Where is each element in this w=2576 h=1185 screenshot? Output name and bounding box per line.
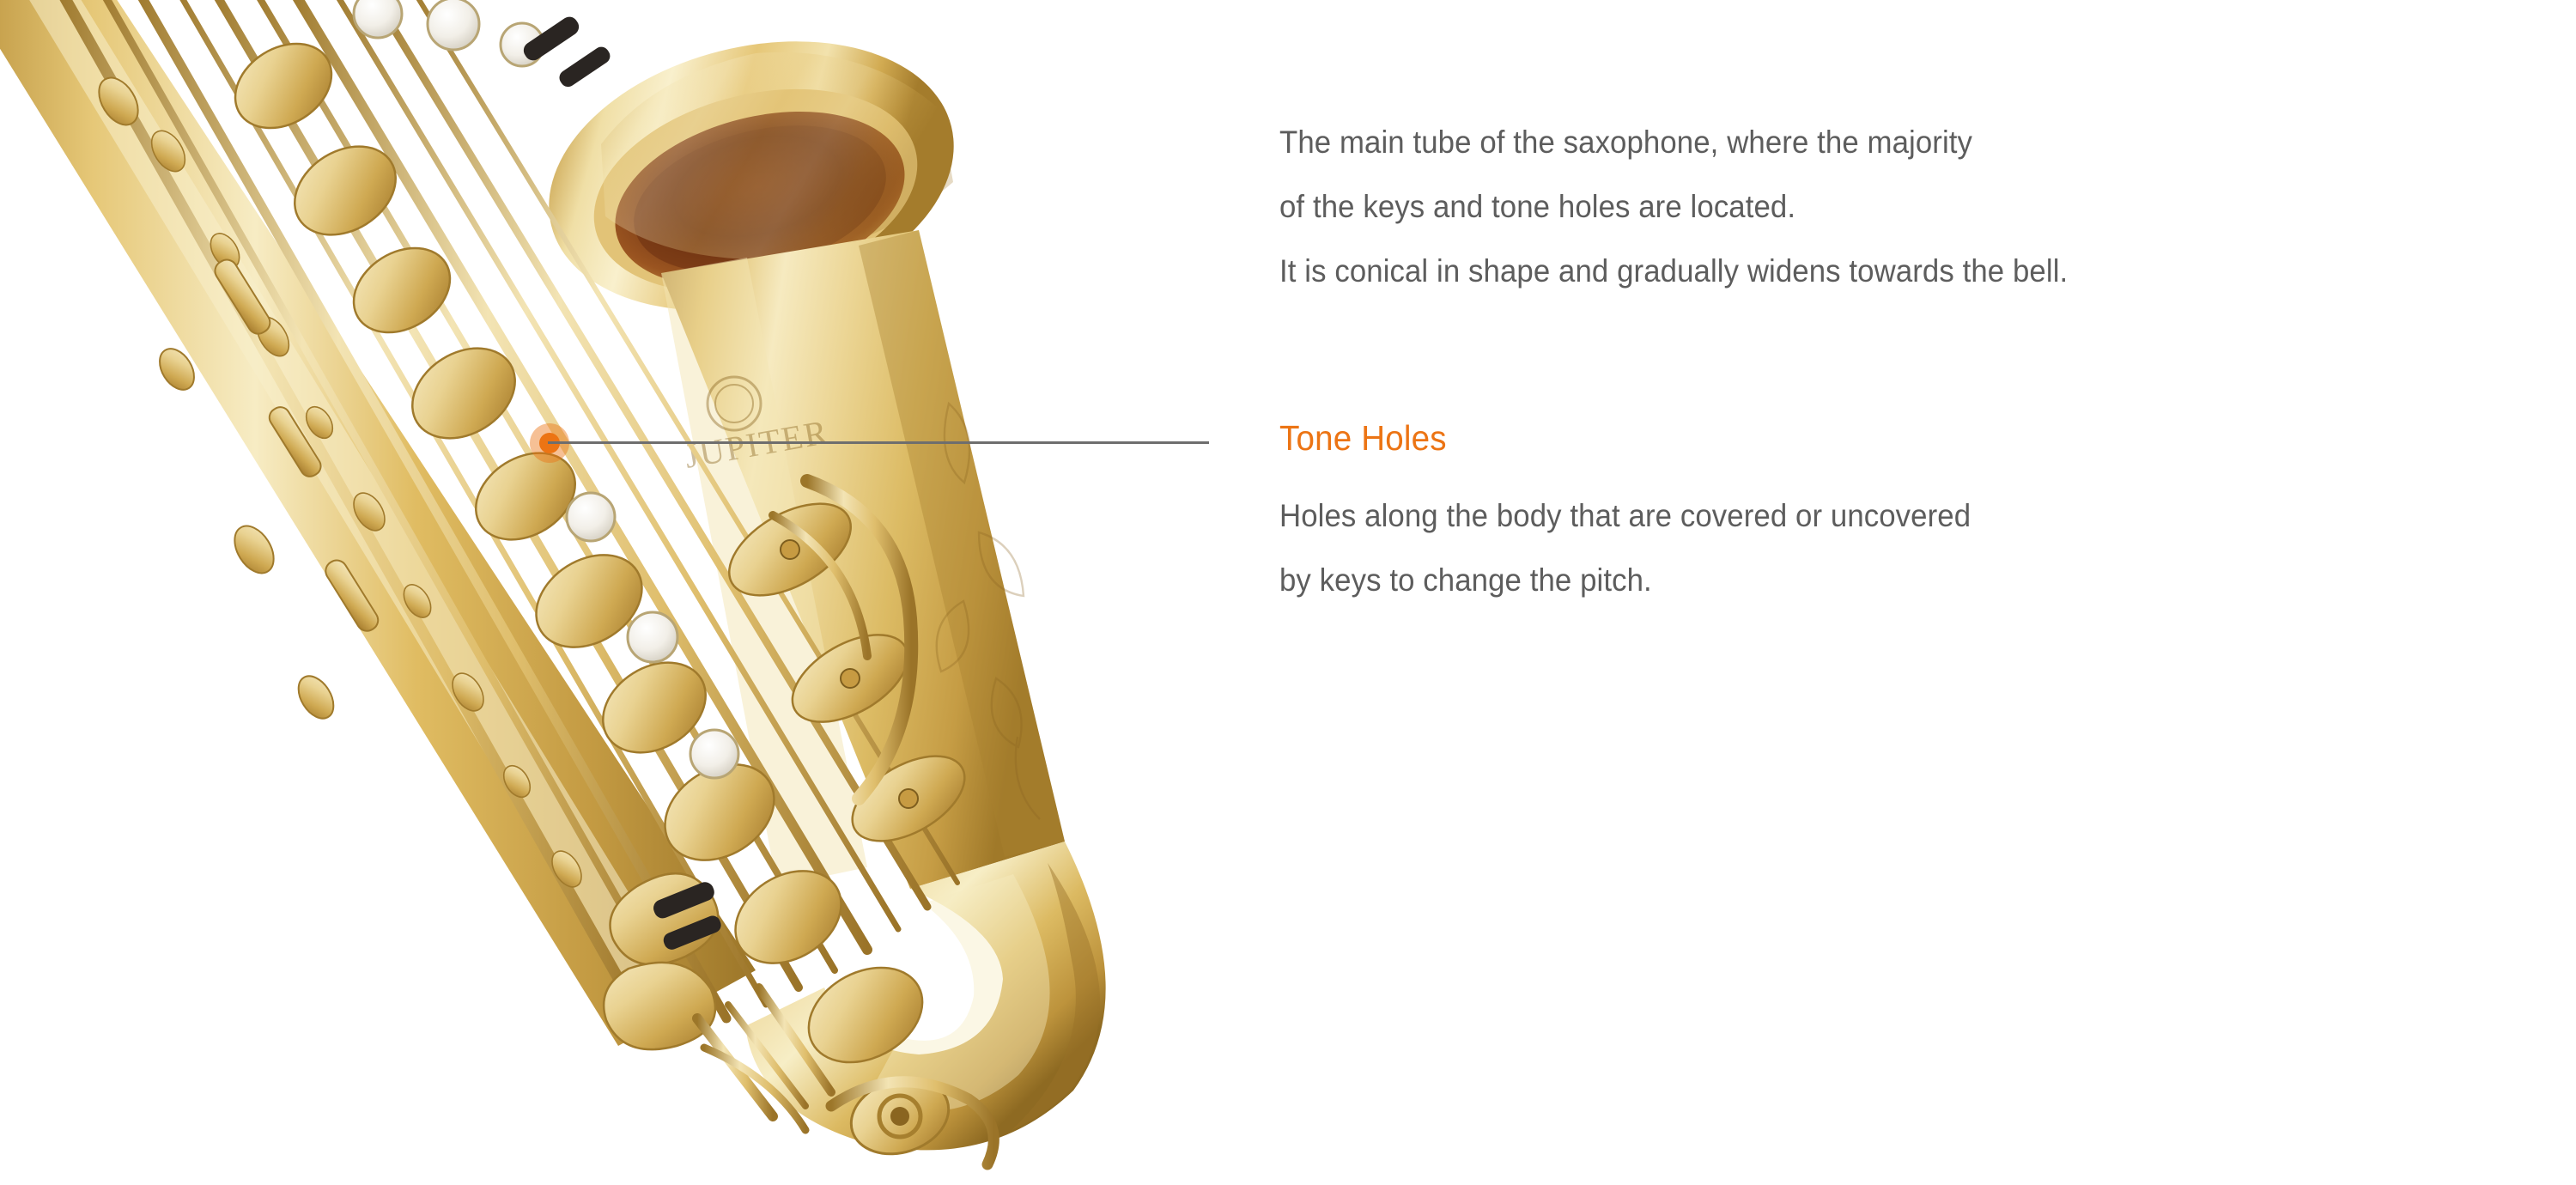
intro-line-1: The main tube of the saxophone, where th…: [1279, 110, 2068, 174]
main-tube-description: The main tube of the saxophone, where th…: [1279, 110, 2118, 303]
tone-holes-line-1: Holes along the body that are covered or…: [1279, 483, 1971, 548]
annotated-saxophone-diagram: JUPITER: [0, 0, 2576, 1185]
annotation-text-panel: The main tube of the saxophone, where th…: [1279, 0, 2507, 1185]
intro-line-2: of the keys and tone holes are located.: [1279, 174, 2068, 239]
saxophone-vector: JUPITER: [0, 0, 1254, 1185]
tone-holes-heading: Tone Holes: [1279, 415, 1971, 461]
tone-holes-section: Tone Holes Holes along the body that are…: [1279, 415, 2015, 612]
tone-holes-line-2: by keys to change the pitch.: [1279, 548, 1971, 612]
intro-line-3: It is conical in shape and gradually wid…: [1279, 239, 2068, 303]
saxophone-illustration: JUPITER: [0, 0, 1254, 1185]
